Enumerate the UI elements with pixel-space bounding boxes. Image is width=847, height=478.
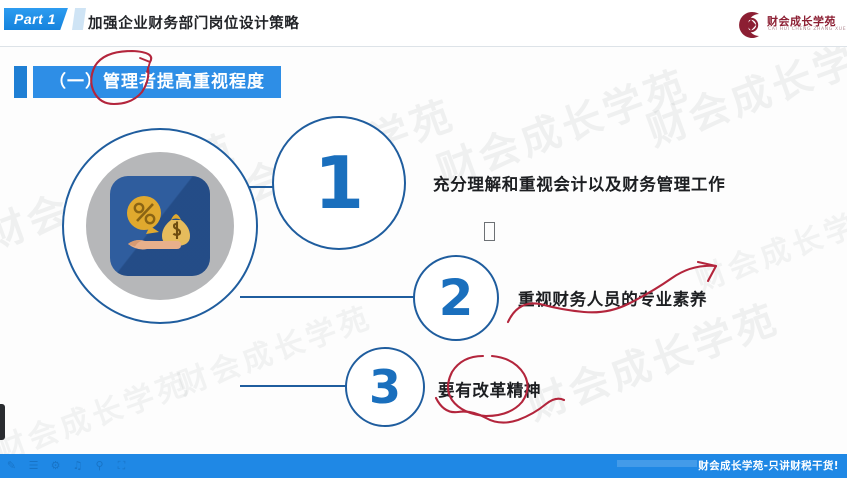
arrow-head-item-2 [698, 262, 716, 281]
slide-canvas: 财会成长学苑 财会成长学苑 财会成长学苑 财会成长学苑 财会成长学苑 财会成长学… [0, 0, 847, 478]
finance-percent-money-hand-icon [110, 176, 210, 276]
left-edge-handle[interactable] [0, 404, 5, 440]
step-number-2: 2 [415, 257, 497, 339]
page-title: 加强企业财务部门岗位设计策略 [88, 12, 299, 33]
music-icon[interactable]: ♫ [70, 457, 85, 474]
brand-logo-pinyin: CAI HUI CHENG ZHANG XUE YUAN [768, 27, 847, 32]
step-label-2: 重视财务人员的专业素养 [518, 286, 707, 310]
footer-toolbar[interactable]: ✎ ☰ ⚙ ♫ ⚲ ⛶ [4, 457, 129, 474]
footer-highlight-strip [617, 460, 697, 467]
pen-icon[interactable]: ✎ [4, 457, 19, 474]
step-node-2[interactable]: 2 [413, 255, 499, 341]
missing-glyph-box [484, 222, 495, 241]
watermark-text: 财会成长学苑 [0, 358, 195, 469]
step-node-3[interactable]: 3 [345, 347, 425, 427]
settings-icon[interactable]: ⚙ [48, 457, 63, 474]
brand-logo-mark-icon [735, 8, 767, 42]
subtitle-accent-tick [14, 66, 27, 98]
brand-logo: 财会成长学苑 CAI HUI CHENG ZHANG XUE YUAN [735, 6, 839, 42]
footer-brand-text: 财会成长学苑-只讲财税干货! [698, 458, 839, 473]
fullscreen-icon[interactable]: ⛶ [114, 457, 129, 474]
watermark-text: 财会成长学苑 [689, 188, 847, 299]
step-label-3: 要有改革精神 [438, 377, 541, 401]
step-number-3: 3 [347, 349, 423, 425]
subtitle-label: （一）管理者提高重视程度 [33, 66, 281, 98]
part-badge: Part 1 [4, 8, 68, 30]
step-node-1[interactable]: 1 [272, 116, 406, 250]
connector-line-2 [240, 296, 426, 298]
step-label-1: 充分理解和重视会计以及财务管理工作 [433, 171, 725, 195]
list-icon[interactable]: ☰ [26, 457, 41, 474]
search-icon[interactable]: ⚲ [92, 457, 107, 474]
slide-footer: ✎ ☰ ⚙ ♫ ⚲ ⛶ 财会成长学苑-只讲财税干货! [0, 454, 847, 478]
step-number-1: 1 [274, 118, 404, 248]
header-divider [0, 46, 847, 47]
connector-line-3 [240, 385, 360, 387]
squiggle-under-item-3 [436, 398, 564, 423]
